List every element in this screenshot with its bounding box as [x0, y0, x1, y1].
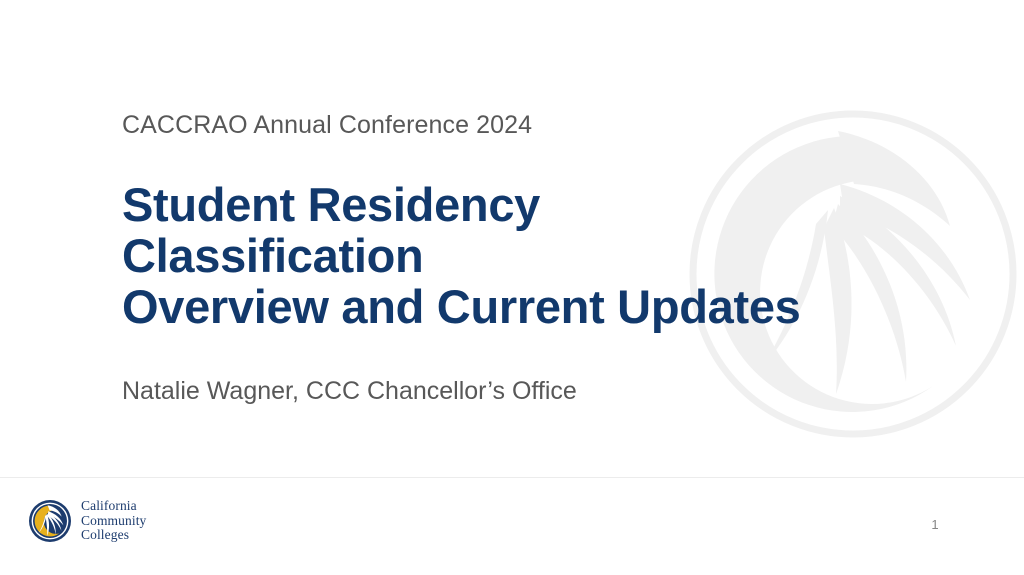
page-number: 1 [920, 517, 950, 532]
slide-eyebrow: CACCRAO Annual Conference 2024 [122, 108, 912, 142]
slide-title: Student Residency Classification Overvie… [122, 179, 912, 332]
title-slide: CACCRAO Annual Conference 2024 Student R… [0, 0, 1024, 575]
ccc-wordmark-line-2: Community [81, 514, 146, 529]
footer-divider [0, 477, 1024, 478]
ccc-wordmark-line-3: Colleges [81, 528, 146, 543]
slide-title-line-1: Student Residency [122, 179, 912, 230]
slide-title-line-2: Classification [122, 230, 912, 281]
slide-presenter: Natalie Wagner, CCC Chancellor’s Office [122, 375, 912, 407]
ccc-seal-icon [28, 499, 72, 543]
ccc-logo-wordmark: California Community Colleges [81, 499, 146, 543]
ccc-wordmark-line-1: California [81, 499, 146, 514]
slide-text-block: CACCRAO Annual Conference 2024 Student R… [122, 108, 912, 407]
ccc-logo-lockup: California Community Colleges [28, 499, 146, 543]
slide-title-line-3: Overview and Current Updates [122, 281, 912, 332]
